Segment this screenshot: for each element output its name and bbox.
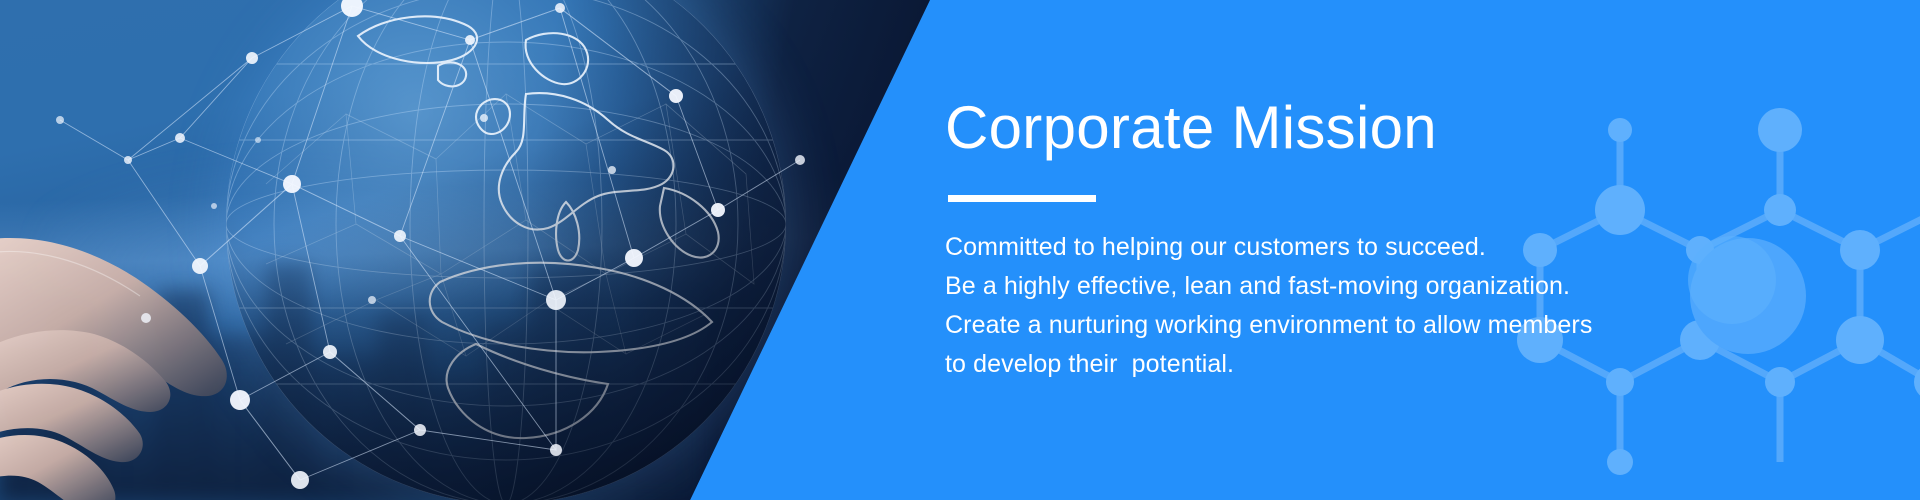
mission-line: Committed to helping our customers to su…	[945, 228, 1725, 267]
title-divider	[948, 195, 1096, 202]
mission-line: to develop their potential.	[945, 345, 1725, 384]
page-title: Corporate Mission	[945, 96, 1725, 161]
mission-line: Be a highly effective, lean and fast-mov…	[945, 267, 1725, 306]
mission-content: Corporate Mission Committed to helping o…	[945, 96, 1725, 384]
mission-line: Create a nurturing working environment t…	[945, 306, 1725, 345]
mission-statement-list: Committed to helping our customers to su…	[945, 228, 1725, 384]
corporate-mission-banner: Corporate Mission Committed to helping o…	[0, 0, 1920, 500]
